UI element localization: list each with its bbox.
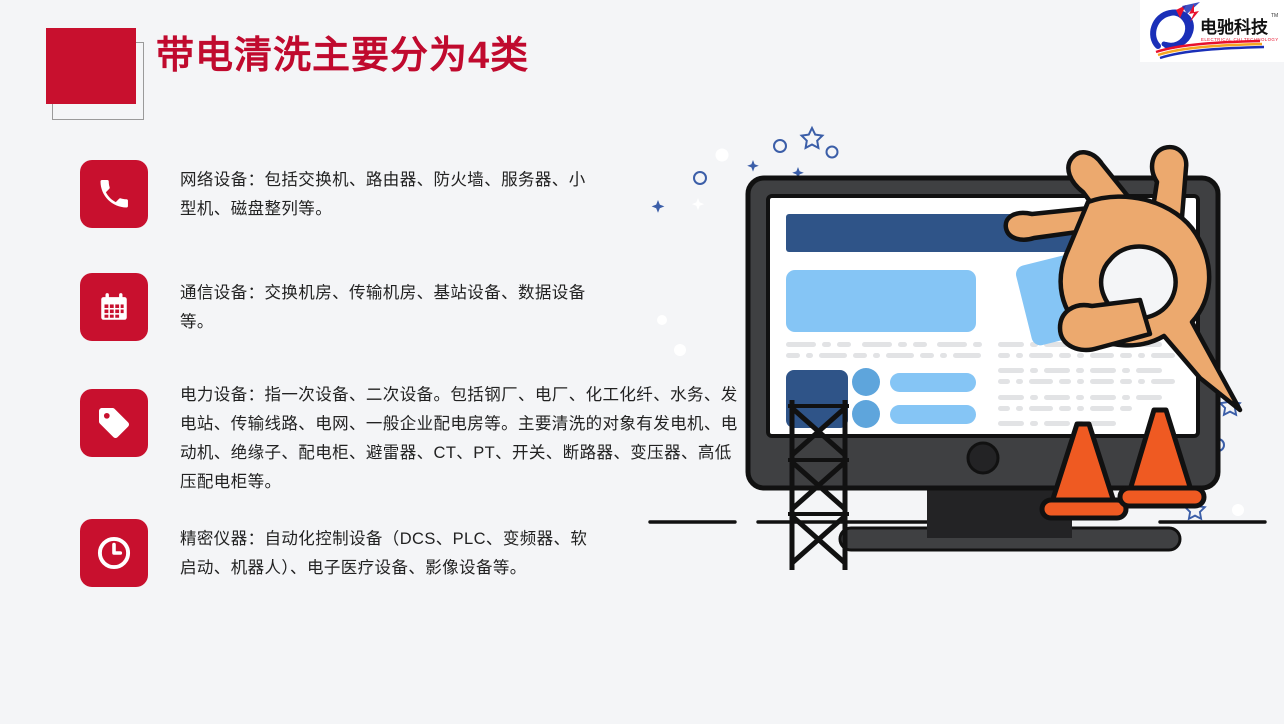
phone-icon bbox=[80, 160, 148, 228]
title-decoration-square bbox=[46, 28, 136, 104]
svg-text:电驰科技: 电驰科技 bbox=[1200, 17, 1269, 37]
screen-avatar bbox=[852, 368, 880, 396]
slide-root: 电驰科技 ELECTRICAL CHI TECHNOLOGY TM 带电清洗主要… bbox=[0, 0, 1284, 724]
screen-hero-block bbox=[786, 270, 976, 332]
screen-side-panel bbox=[786, 370, 848, 428]
screen-avatar bbox=[852, 400, 880, 428]
svg-text:ELECTRICAL CHI TECHNOLOGY: ELECTRICAL CHI TECHNOLOGY bbox=[1201, 37, 1279, 42]
monitor-hand-illustration bbox=[640, 110, 1284, 590]
logo-mark-icon: 电驰科技 ELECTRICAL CHI TECHNOLOGY TM bbox=[1140, 0, 1284, 62]
calendar-icon bbox=[80, 273, 148, 341]
clock-icon bbox=[80, 519, 148, 587]
svg-text:TM: TM bbox=[1271, 13, 1278, 19]
tag-icon bbox=[80, 389, 148, 457]
page-title: 带电清洗主要分为4类 bbox=[156, 34, 529, 80]
company-logo: 电驰科技 ELECTRICAL CHI TECHNOLOGY TM bbox=[1140, 0, 1284, 62]
screen-list-bar bbox=[890, 405, 976, 424]
list-item-text: 通信设备：交换机房、传输机房、基站设备、数据设备等。 bbox=[180, 279, 600, 337]
illustration bbox=[640, 110, 1284, 590]
monitor-power-button[interactable] bbox=[968, 443, 998, 473]
list-item-text: 网络设备：包括交换机、路由器、防火墙、服务器、小型机、磁盘整列等。 bbox=[180, 166, 600, 224]
screen-list-bar bbox=[890, 373, 976, 392]
list-item-text: 精密仪器：自动化控制设备（DCS、PLC、变频器、软启动、机器人）、电子医疗设备… bbox=[180, 525, 600, 583]
